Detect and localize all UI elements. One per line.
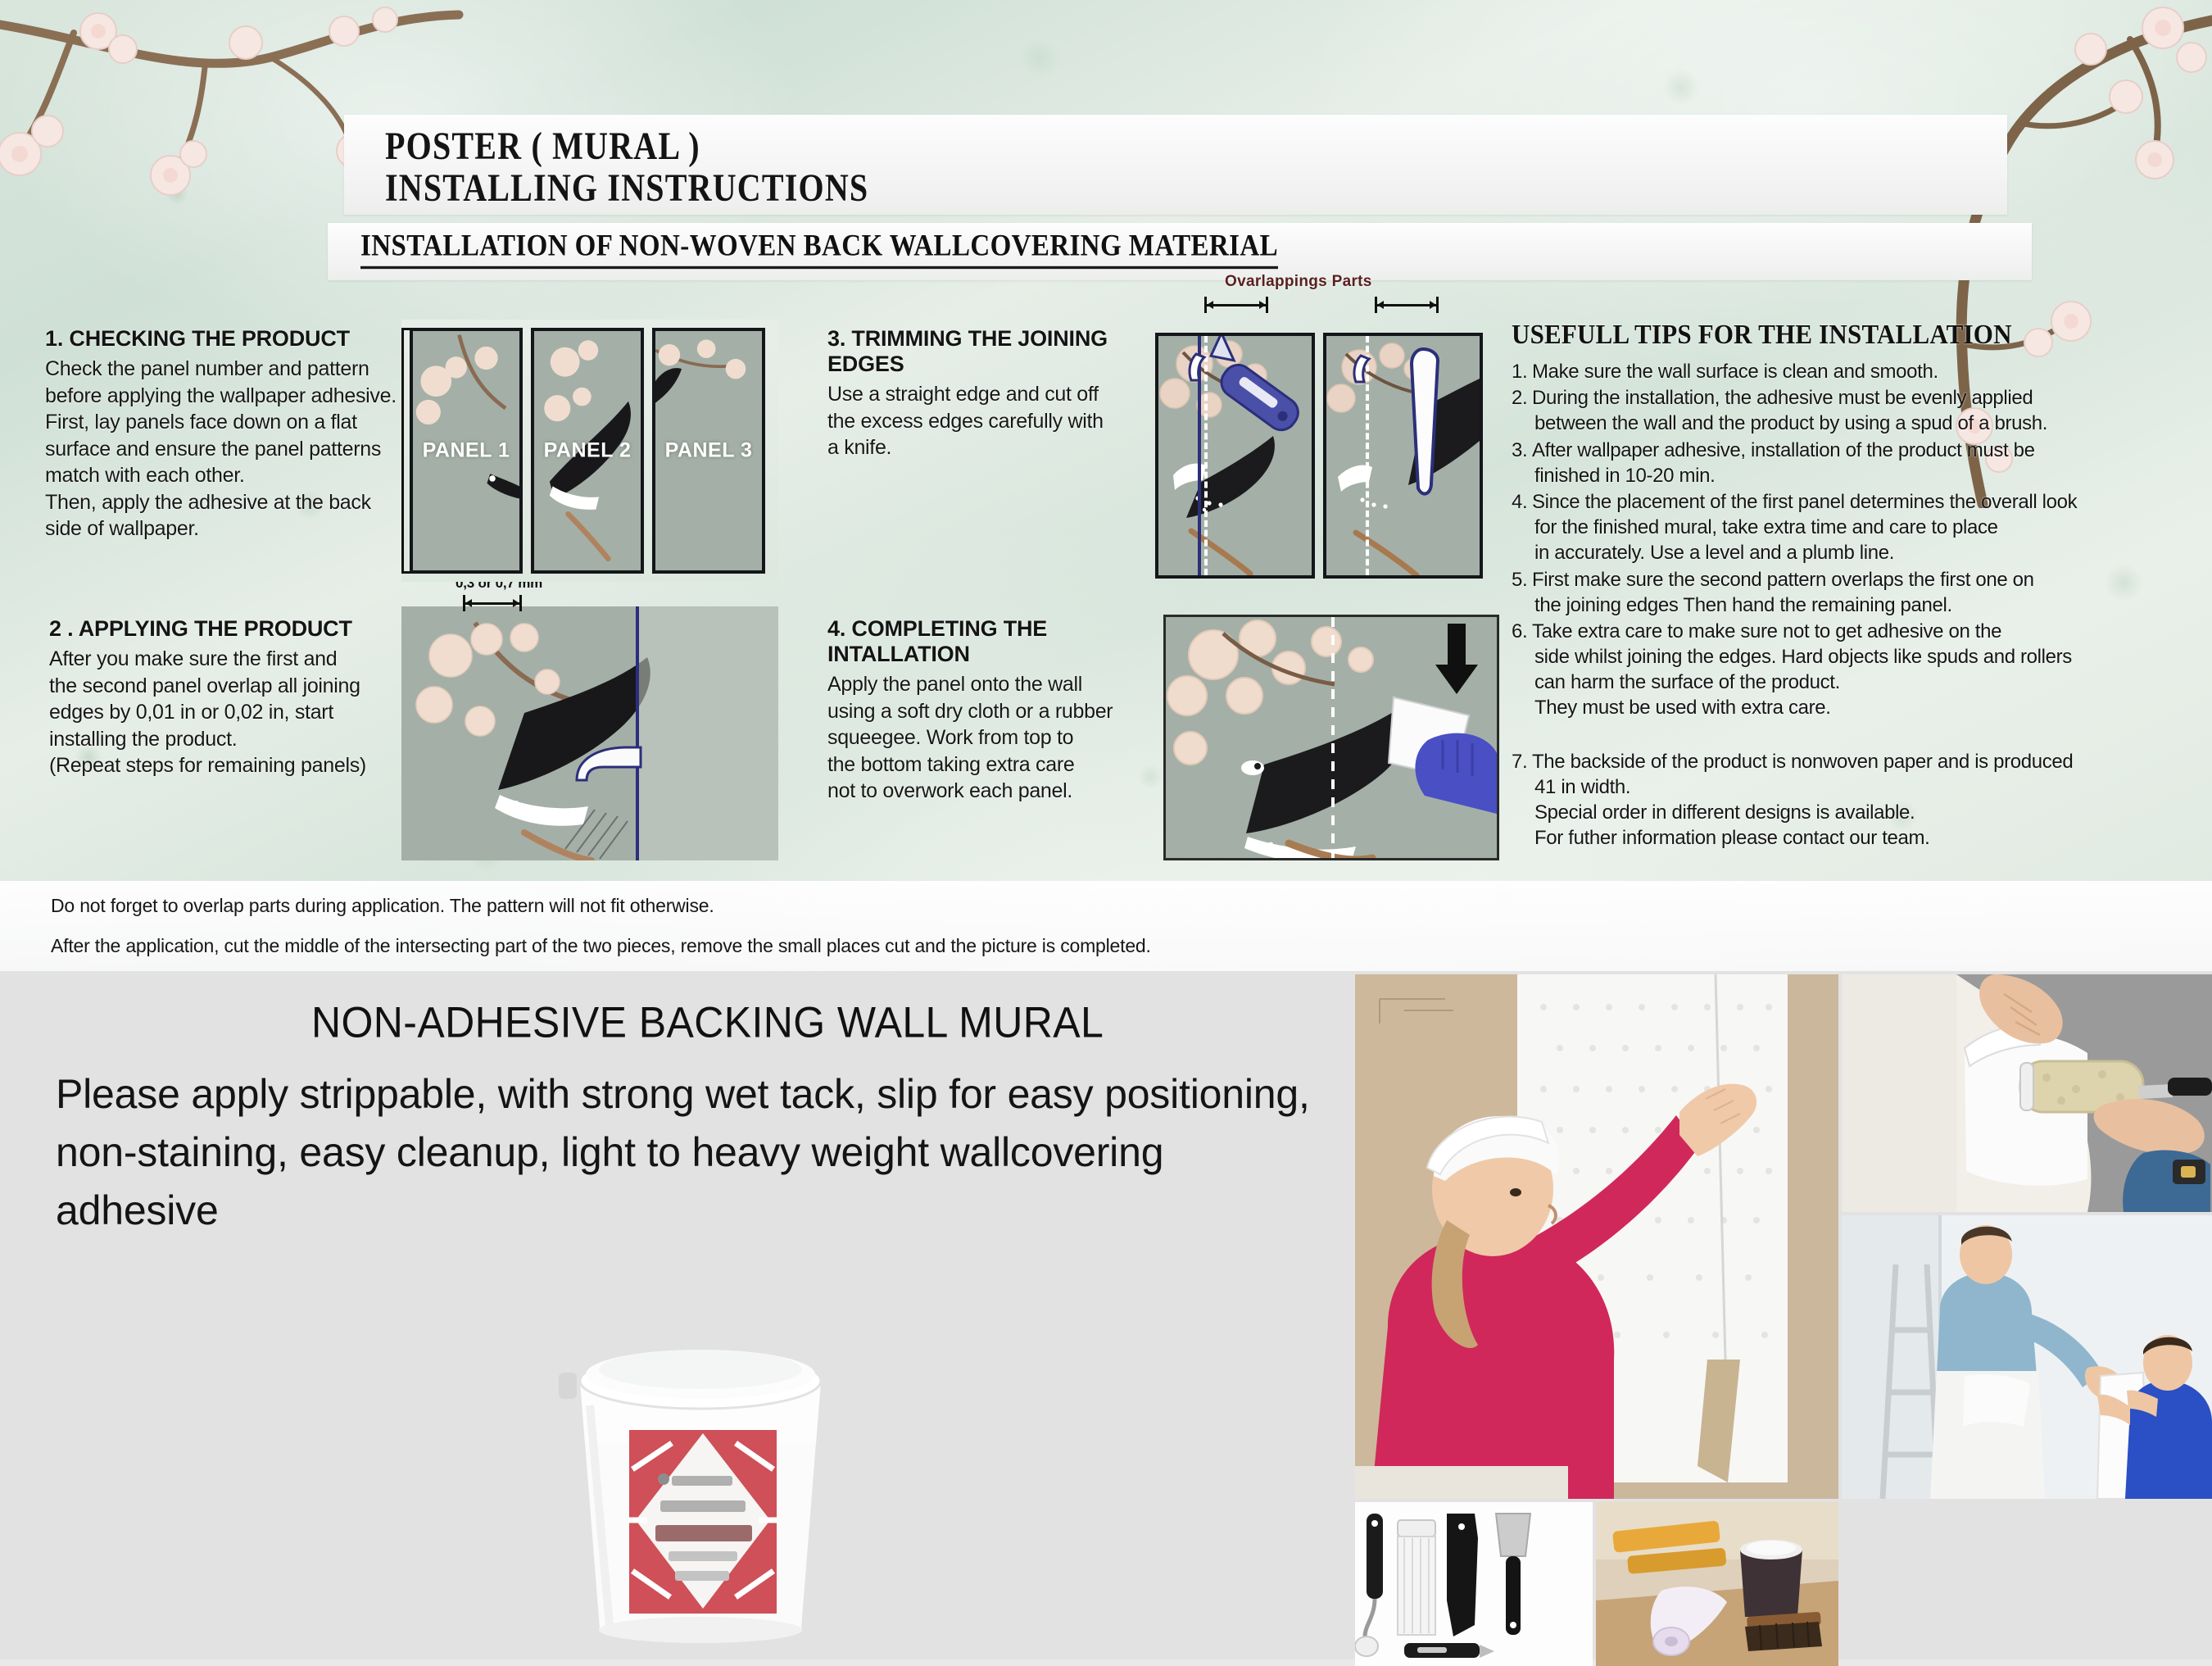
step-2-body: After you make sure the first and the se… bbox=[49, 646, 418, 779]
tip-item: 2.During the installation, the adhesive … bbox=[1512, 385, 2183, 436]
trim-step-straightedge bbox=[1323, 333, 1483, 579]
title-line-2: INSTALLING INSTRUCTIONS bbox=[385, 163, 868, 212]
tip-line: For futher information please contact ou… bbox=[1512, 825, 2183, 851]
tip-line: Since the placement of the first panel d… bbox=[1532, 491, 2077, 513]
step-3-body: Use a straight edge and cut off the exce… bbox=[827, 381, 1155, 461]
instruction-poster: POSTER ( MURAL ) INSTALLING INSTRUCTIONS… bbox=[0, 0, 2212, 971]
overlap-arrow-left bbox=[1204, 297, 1268, 313]
tip-item: 1.Make sure the wall surface is clean an… bbox=[1512, 359, 2183, 384]
step-1-heading: 1. CHECKING THE PRODUCT bbox=[45, 326, 430, 352]
tip-item: 3.After wallpaper adhesive, installation… bbox=[1512, 438, 2183, 488]
poster-title: POSTER ( MURAL ) INSTALLING INSTRUCTIONS bbox=[385, 121, 868, 205]
panel-2-label: PANEL 2 bbox=[544, 439, 632, 463]
tip-line: Make sure the wall surface is clean and … bbox=[1532, 361, 1938, 383]
tip-item: 5.First make sure the second pattern ove… bbox=[1512, 567, 2183, 618]
tip-line: First make sure the second pattern overl… bbox=[1532, 569, 2034, 591]
tip-line: finished in 10-20 min. bbox=[1512, 463, 2183, 488]
step-3-trimming-the-joining-edges: 3. TRIMMING THE JOINING EDGES Use a stra… bbox=[827, 326, 1155, 461]
tip-line: The backside of the product is nonwoven … bbox=[1532, 751, 2073, 773]
photo-column-right bbox=[1842, 974, 2212, 1499]
tip-line: between the wall and the product by usin… bbox=[1512, 411, 2183, 436]
step-4-completing-the-installation: 4. COMPLETING THE INTALLATION Apply the … bbox=[827, 616, 1155, 805]
photo-row-bottom bbox=[1355, 1502, 1838, 1666]
panel-3-label: PANEL 3 bbox=[665, 439, 753, 463]
photo-wallpaper-tool-kit bbox=[1355, 1502, 1593, 1666]
tip-line: Take extra care to make sure not to get … bbox=[1532, 620, 2001, 642]
tip-number: 4. bbox=[1512, 489, 1532, 515]
step-1-body: Check the panel number and pattern befor… bbox=[45, 356, 430, 542]
promo-section: NON-ADHESIVE BACKING WALL MURAL Please a… bbox=[0, 971, 2212, 1659]
overlap-arrow-right bbox=[1375, 297, 1439, 313]
panel-3-box: PANEL 3 bbox=[652, 328, 765, 574]
poster-subtitle: INSTALLATION OF NON-WOVEN BACK WALLCOVER… bbox=[360, 229, 1278, 269]
tips-list: 1.Make sure the wall surface is clean an… bbox=[1512, 359, 2183, 851]
tip-number: 6. bbox=[1512, 619, 1532, 644]
overlap-mural-surface bbox=[401, 606, 778, 860]
step-2-heading: 2 . APPLYING THE PRODUCT bbox=[49, 616, 418, 642]
tip-line: During the installation, the adhesive mu… bbox=[1532, 387, 2033, 409]
step-4-body: Apply the panel onto the wall using a so… bbox=[827, 671, 1155, 805]
step-4-heading: 4. COMPLETING THE INTALLATION bbox=[827, 616, 1155, 667]
diagram-smoothing-with-cloth bbox=[1163, 615, 1499, 860]
photo-two-people-hanging-wallpaper bbox=[1842, 1215, 2212, 1499]
overlap-dimension-arrow bbox=[463, 595, 522, 611]
tip-line: They must be used with extra care. bbox=[1512, 695, 2183, 720]
tip-number: 5. bbox=[1512, 567, 1532, 592]
diagram-overlap-detail bbox=[401, 606, 778, 860]
tip-number: 3. bbox=[1512, 438, 1532, 463]
tip-number: 1. bbox=[1512, 359, 1532, 384]
step-2-applying-the-product: 2 . APPLYING THE PRODUCT After you make … bbox=[49, 616, 418, 779]
step-1-checking-the-product: 1. CHECKING THE PRODUCT Check the panel … bbox=[45, 326, 430, 542]
tip-item: 6.Take extra care to make sure not to ge… bbox=[1512, 619, 2183, 721]
tip-line: for the finished mural, take extra time … bbox=[1512, 515, 2183, 540]
panel-2-box: PANEL 2 bbox=[531, 328, 644, 574]
tip-item: 4.Since the placement of the first panel… bbox=[1512, 489, 2183, 566]
overlapping-parts-label: Ovarlappings Parts bbox=[1225, 273, 1372, 291]
tip-item: 7.The backside of the product is nonwove… bbox=[1512, 749, 2183, 851]
tip-line: 41 in width. bbox=[1512, 774, 2183, 800]
tips-heading: USEFULL TIPS FOR THE INSTALLATION bbox=[1512, 318, 2183, 351]
trim-step-knife bbox=[1155, 333, 1315, 579]
photo-collage bbox=[1352, 971, 2212, 1659]
photo-wallpaper-supplies bbox=[1596, 1502, 1838, 1666]
tip-line: in accurately. Use a level and a plumb l… bbox=[1512, 540, 2183, 565]
note-line-2: After the application, cut the middle of… bbox=[51, 916, 2212, 956]
diagram-trimming bbox=[1147, 318, 1491, 584]
tip-number: 2. bbox=[1512, 385, 1532, 411]
panel-1-label: PANEL 1 bbox=[423, 439, 510, 463]
note-line-1: Do not forget to overlap parts during ap… bbox=[51, 881, 2212, 916]
tip-line: side whilst joining the edges. Hard obje… bbox=[1512, 644, 2183, 670]
step-3-heading: 3. TRIMMING THE JOINING EDGES bbox=[827, 326, 1155, 377]
promo-heading: NON-ADHESIVE BACKING WALL MURAL bbox=[311, 997, 1104, 1047]
diagram-panel-layout: PANEL 1 PANEL 2 PANEL 3 bbox=[401, 320, 778, 582]
useful-tips-section: USEFULL TIPS FOR THE INSTALLATION 1.Make… bbox=[1512, 318, 2183, 851]
adhesive-bucket bbox=[541, 1282, 860, 1643]
tip-number: 7. bbox=[1512, 749, 1532, 774]
tip-line: Special order in different designs is av… bbox=[1512, 800, 2183, 825]
promo-body: Please apply strippable, with strong wet… bbox=[56, 1065, 1317, 1240]
tip-line: After wallpaper adhesive, installation o… bbox=[1532, 439, 2035, 461]
photo-woman-applying-wallpaper bbox=[1355, 974, 1838, 1499]
straight-edge-icon bbox=[1326, 336, 1480, 575]
tip-line: the joining edges Then hand the remainin… bbox=[1512, 592, 2183, 618]
utility-knife-icon bbox=[1158, 336, 1312, 575]
tip-line: can harm the surface of the product. bbox=[1512, 670, 2183, 695]
poster-footer-note: Do not forget to overlap parts during ap… bbox=[0, 881, 2212, 971]
photo-roller-applying-adhesive bbox=[1842, 974, 2212, 1212]
